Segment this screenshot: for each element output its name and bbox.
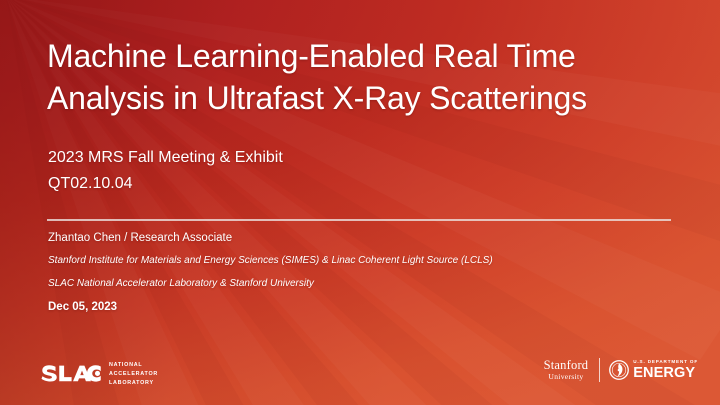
slac-tagline-line-3: Laboratory — [109, 379, 158, 388]
doe-energy-label: ENERGY — [633, 366, 698, 381]
horizontal-divider — [47, 219, 671, 221]
title-line-2: Analysis in Ultrafast X-Ray Scatterings — [47, 78, 667, 120]
session-code: QT02.10.04 — [48, 171, 283, 197]
conference-info: 2023 MRS Fall Meeting & Exhibit QT02.10.… — [48, 145, 283, 197]
logo-separator — [599, 358, 600, 382]
author-affiliation-2: SLAC National Accelerator Laboratory & S… — [48, 279, 493, 290]
stanford-name: Stanford — [544, 359, 589, 372]
doe-wordmark: U.S. DEPARTMENT OF ENERGY — [633, 360, 698, 380]
author-block: Zhantao Chen / Research Associate Stanfo… — [48, 232, 493, 313]
doe-logo: U.S. DEPARTMENT OF ENERGY — [609, 360, 698, 380]
author-name: Zhantao Chen / Research Associate — [48, 232, 493, 244]
stanford-university-label: University — [544, 373, 589, 381]
title-line-1: Machine Learning-Enabled Real Time — [47, 36, 667, 78]
sponsor-logos: Stanford University U.S. DEPARTMENT OF E… — [544, 358, 698, 382]
slac-wordmark-icon — [40, 364, 102, 385]
stanford-logo: Stanford University — [544, 359, 591, 381]
presentation-title-slide: Machine Learning-Enabled Real Time Analy… — [0, 0, 720, 405]
author-affiliation-1: Stanford Institute for Materials and Ene… — [48, 256, 493, 267]
conference-name: 2023 MRS Fall Meeting & Exhibit — [48, 145, 283, 171]
doe-seal-icon — [609, 360, 629, 380]
slac-tagline: National Accelerator Laboratory — [109, 361, 158, 387]
slac-tagline-line-1: National — [109, 361, 158, 370]
doe-department-label: U.S. DEPARTMENT OF — [633, 360, 698, 365]
slide-title: Machine Learning-Enabled Real Time Analy… — [47, 36, 667, 119]
slac-tagline-line-2: Accelerator — [109, 370, 158, 379]
presentation-date: Dec 05, 2023 — [48, 301, 493, 313]
slac-logo: National Accelerator Laboratory — [40, 361, 158, 387]
